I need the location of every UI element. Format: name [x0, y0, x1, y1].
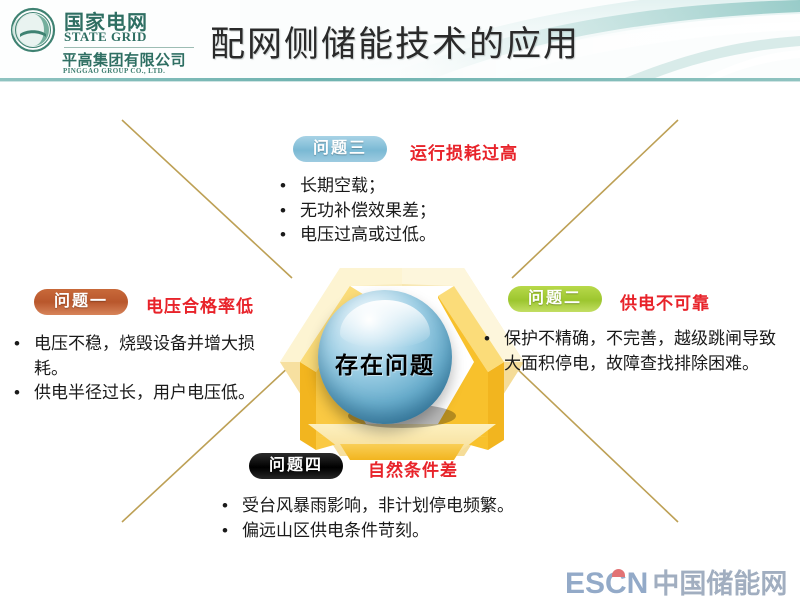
bullet-glyph: • — [222, 519, 242, 544]
watermark-name: 中国储能网 — [652, 562, 787, 601]
sphere-gloss-highlight — [340, 300, 430, 348]
slide-header: 国家电网 STATE GRID 平高集团有限公司 PINGGAO GROUP C… — [0, 0, 800, 80]
logo-org-en: STATE GRID — [64, 29, 147, 45]
bullets-problem-one: • 电压不稳，烧毁设备并增大损耗。 • 供电半径过长，用户电压低。 — [14, 332, 262, 406]
bullet-glyph: • — [222, 494, 242, 519]
list-item: • 受台风暴雨影响，非计划停电频繁。 — [222, 494, 622, 519]
bullet-text: 受台风暴雨影响，非计划停电频繁。 — [242, 494, 622, 519]
page-title: 配网侧储能技术的应用 — [210, 16, 580, 67]
list-item: • 偏远山区供电条件苛刻。 — [222, 519, 622, 544]
bullet-text: 无功补偿效果差； — [300, 199, 540, 224]
bullet-glyph: • — [280, 223, 300, 248]
site-watermark: ESCN 中国储能网 — [565, 562, 787, 601]
center-sphere: 存在问题 — [318, 290, 452, 424]
watermark-brand: ESCN — [565, 567, 648, 601]
watermark-accent-arc — [612, 569, 625, 577]
state-grid-emblem-icon — [10, 7, 56, 53]
bullet-glyph: • — [484, 327, 504, 352]
headline-problem-one: 电压合格率低 — [146, 292, 254, 317]
bullet-text: 供电半径过长，用户电压低。 — [34, 381, 262, 406]
bullet-text: 偏远山区供电条件苛刻。 — [242, 519, 622, 544]
list-item: • 无功补偿效果差； — [280, 199, 540, 224]
center-label: 存在问题 — [318, 346, 452, 380]
badge-problem-four[interactable]: 问题四 — [249, 453, 343, 479]
bullets-problem-three: • 长期空载； • 无功补偿效果差； • 电压过高或过低。 — [280, 174, 540, 248]
badge-problem-three[interactable]: 问题三 — [293, 136, 387, 162]
list-item: • 长期空载； — [280, 174, 540, 199]
bullet-glyph: • — [280, 199, 300, 224]
bullets-problem-two: • 保护不精确，不完善，越级跳闸导致大面积停电，故障查找排除困难。 — [484, 327, 784, 376]
headline-problem-four: 自然条件差 — [368, 456, 458, 481]
bullet-text: 电压过高或过低。 — [300, 223, 540, 248]
bullet-glyph: • — [14, 381, 34, 406]
header-rule-secondary — [0, 81, 800, 82]
bullet-text: 长期空载； — [300, 174, 540, 199]
bullet-glyph: • — [280, 174, 300, 199]
watermark-brand-text: ESCN — [565, 567, 648, 600]
badge-problem-one[interactable]: 问题一 — [34, 289, 128, 315]
bullet-text: 保护不精确，不完善，越级跳闸导致大面积停电，故障查找排除困难。 — [504, 327, 784, 376]
bullet-glyph: • — [14, 332, 34, 357]
list-item: • 供电半径过长，用户电压低。 — [14, 381, 262, 406]
slide-canvas: 国家电网 STATE GRID 平高集团有限公司 PINGGAO GROUP C… — [0, 0, 800, 601]
bullet-text: 电压不稳，烧毁设备并增大损耗。 — [34, 332, 262, 381]
list-item: • 电压过高或过低。 — [280, 223, 540, 248]
badge-problem-two[interactable]: 问题二 — [508, 286, 602, 312]
headline-problem-two: 供电不可靠 — [620, 289, 710, 314]
bullets-problem-four: • 受台风暴雨影响，非计划停电频繁。 • 偏远山区供电条件苛刻。 — [222, 494, 622, 543]
headline-problem-three: 运行损耗过高 — [410, 139, 518, 164]
logo-divider — [64, 47, 194, 48]
list-item: • 电压不稳，烧毁设备并增大损耗。 — [14, 332, 262, 381]
list-item: • 保护不精确，不完善，越级跳闸导致大面积停电，故障查找排除困难。 — [484, 327, 784, 376]
logo-company-en: PINGGAO GROUP CO., LTD. — [63, 67, 165, 75]
brand-logo: 国家电网 STATE GRID 平高集团有限公司 PINGGAO GROUP C… — [8, 4, 198, 76]
